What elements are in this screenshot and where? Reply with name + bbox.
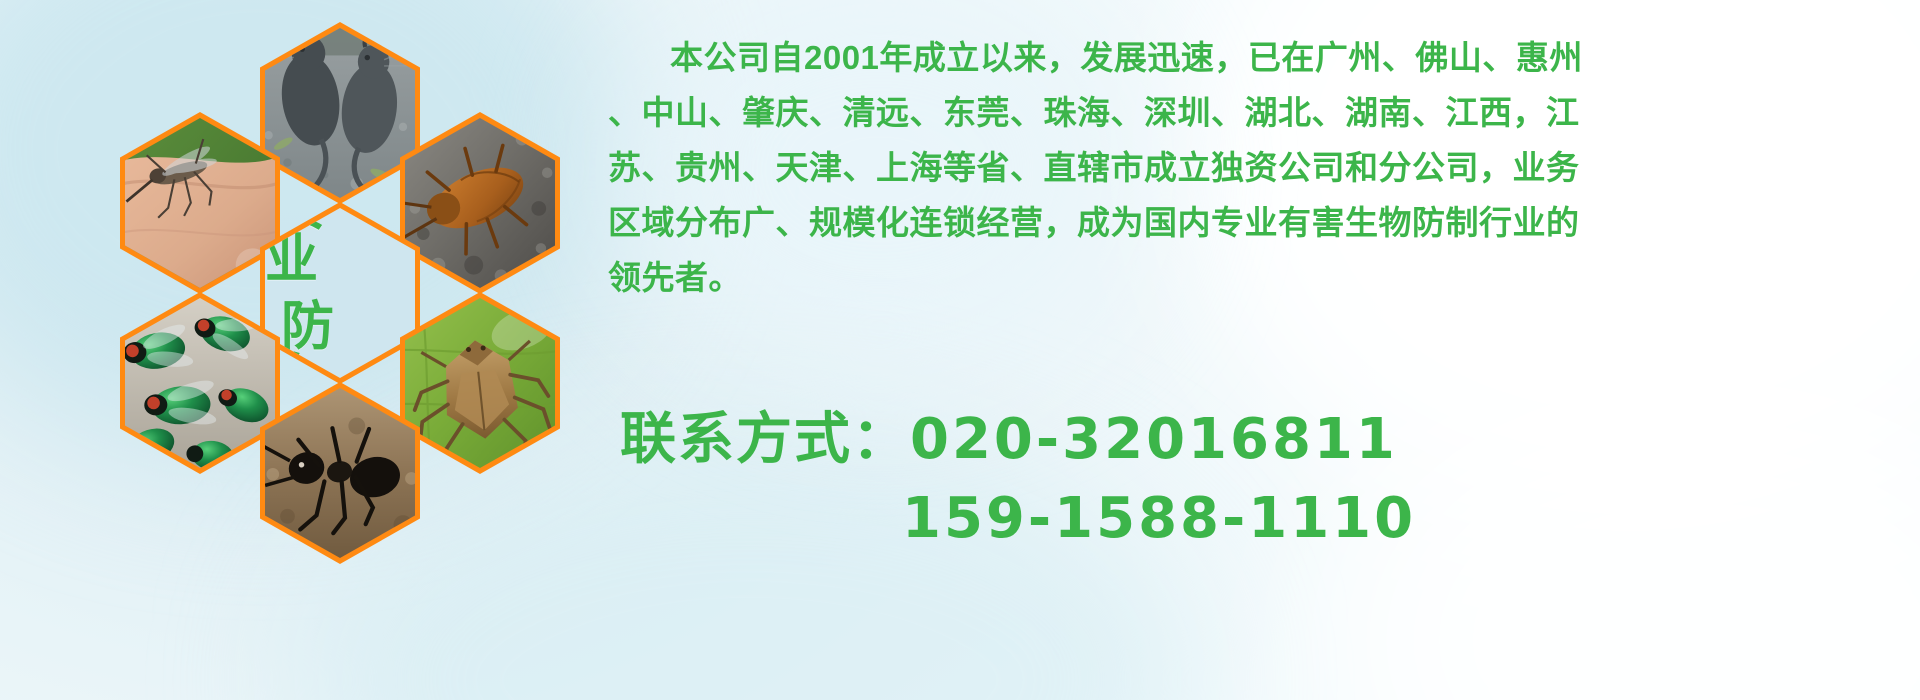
contact-phone-1[interactable]: 020-32016811	[910, 407, 1398, 472]
contact-secondary-line: 159-1588-1110	[620, 479, 1900, 558]
hex-ant-photo[interactable]	[260, 382, 420, 564]
hex-stinkbug-inner	[405, 298, 555, 468]
intro-line-4: 区域分布广、规模化连锁经营，成为国内专业有害生物防制行业的	[608, 195, 1908, 250]
contact-label: 联系方式：	[620, 407, 910, 470]
intro-paragraph: 本公司自2001年成立以来，发展迅速，已在广州、佛山、惠州 、中山、肇庆、清远、…	[608, 30, 1908, 305]
hex-badge-line2: 防治	[265, 300, 415, 378]
contact-block: 联系方式：020-32016811 159-1588-1110	[620, 400, 1900, 558]
hex-flies-photo[interactable]	[120, 292, 280, 474]
hex-badge-line1: 专业	[265, 208, 415, 286]
hex-rat-inner	[265, 28, 415, 198]
hex-ant-inner	[265, 388, 415, 558]
hex-stinkbug-photo[interactable]	[400, 292, 560, 474]
hex-badge-inner: 专业 防治	[265, 208, 415, 378]
hex-badge-专业防治: 专业 防治	[260, 202, 420, 384]
intro-line-5: 领先者。	[608, 250, 1908, 305]
banner-root: 专业 防治	[0, 0, 1920, 700]
rat-photo-art	[265, 28, 415, 198]
mosquito-photo-art	[125, 118, 275, 288]
hex-rat-photo[interactable]	[260, 22, 420, 204]
ant-photo-art	[265, 388, 415, 558]
hex-badge-label: 专业 防治	[265, 208, 415, 378]
hex-mosquito-photo[interactable]	[120, 112, 280, 294]
hex-photo-cluster: 专业 防治	[78, 8, 598, 568]
contact-phone-2[interactable]: 159-1588-1110	[902, 486, 1416, 551]
hex-cockroach-inner	[405, 118, 555, 288]
hex-cockroach-photo[interactable]	[400, 112, 560, 294]
hex-flies-inner	[125, 298, 275, 468]
intro-line-2: 、中山、肇庆、清远、东莞、珠海、深圳、湖北、湖南、江西，江	[608, 85, 1908, 140]
stinkbug-photo-art	[405, 298, 555, 468]
contact-primary-line: 联系方式：020-32016811	[620, 400, 1900, 479]
hex-mosquito-inner	[125, 118, 275, 288]
cockroach-photo-art	[405, 118, 555, 288]
intro-line-3: 苏、贵州、天津、上海等省、直辖市成立独资公司和分公司，业务	[608, 140, 1908, 195]
flies-photo-art	[125, 298, 275, 468]
intro-line-1: 本公司自2001年成立以来，发展迅速，已在广州、佛山、惠州	[608, 30, 1908, 85]
